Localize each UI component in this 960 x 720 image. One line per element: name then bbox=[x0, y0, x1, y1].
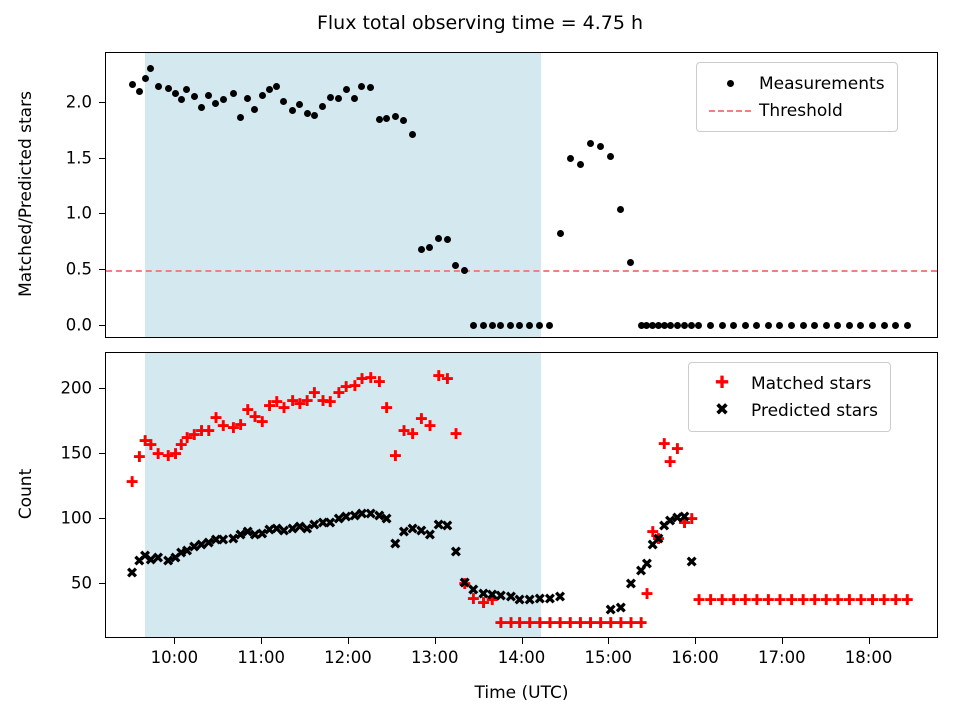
y-tick-mark bbox=[99, 213, 105, 214]
matched-star-point: ✚ bbox=[449, 427, 463, 441]
x-tick-mark bbox=[695, 638, 696, 644]
predicted-star-point: ✖ bbox=[440, 519, 454, 533]
legend-item-threshold[interactable]: Threshold bbox=[707, 97, 885, 124]
measurement-point bbox=[557, 230, 564, 237]
measurement-point bbox=[536, 322, 543, 329]
measurement-point bbox=[259, 92, 266, 99]
predicted-star-point: ✖ bbox=[614, 601, 628, 615]
x-tick-label: 13:00 bbox=[411, 648, 459, 667]
measurement-point bbox=[607, 153, 614, 160]
dot-marker-icon bbox=[707, 80, 753, 87]
measurement-point bbox=[392, 113, 399, 120]
matched-star-point: ✚ bbox=[125, 475, 139, 489]
plus-marker-icon: ✚ bbox=[699, 375, 745, 392]
measurement-point bbox=[707, 322, 714, 329]
x-tick-label: 14:00 bbox=[498, 648, 546, 667]
y-tick-label: 0.0 bbox=[0, 315, 92, 334]
matched-star-point: ✚ bbox=[388, 449, 402, 463]
matched-star-point: ✚ bbox=[380, 401, 394, 415]
matched-star-point: ✚ bbox=[900, 593, 914, 607]
y-tick-label: 50 bbox=[0, 574, 92, 593]
measurement-point bbox=[869, 322, 876, 329]
x-tick-mark bbox=[522, 638, 523, 644]
matched-star-point: ✚ bbox=[634, 616, 648, 630]
measurement-point bbox=[730, 322, 737, 329]
legend-item-measurements[interactable]: Measurements bbox=[707, 70, 885, 97]
x-tick-mark bbox=[174, 638, 175, 644]
matched-star-point: ✚ bbox=[255, 415, 269, 429]
legend-item-matched-stars[interactable]: ✚ Matched stars bbox=[699, 370, 878, 397]
x-tick-mark bbox=[608, 638, 609, 644]
x-tick-label: 16:00 bbox=[671, 648, 719, 667]
measurement-point bbox=[857, 322, 864, 329]
y-tick-label: 1.0 bbox=[0, 204, 92, 223]
y-tick-label: 100 bbox=[0, 509, 92, 528]
x-tick-label: 17:00 bbox=[758, 648, 806, 667]
measurement-point bbox=[577, 161, 584, 168]
measurement-point bbox=[719, 322, 726, 329]
x-tick-mark bbox=[261, 638, 262, 644]
measurement-point bbox=[811, 322, 818, 329]
y-tick-label: 200 bbox=[0, 379, 92, 398]
predicted-star-point: ✖ bbox=[677, 510, 691, 524]
threshold-line bbox=[106, 270, 937, 272]
measurement-point bbox=[237, 114, 244, 121]
legend-label-matched-stars: Matched stars bbox=[745, 374, 871, 394]
predicted-star-point: ✖ bbox=[640, 557, 654, 571]
legend-label-threshold: Threshold bbox=[753, 101, 843, 121]
measurement-point bbox=[823, 322, 830, 329]
y-tick-mark bbox=[99, 388, 105, 389]
bottom-legend: ✚ Matched stars ✖ Predicted stars bbox=[688, 362, 891, 432]
measurement-point bbox=[834, 322, 841, 329]
matched-star-point: ✚ bbox=[372, 375, 386, 389]
top-legend: Measurements Threshold bbox=[696, 62, 898, 132]
top-y-axis-label: Matched/Predicted stars bbox=[16, 51, 36, 337]
measurement-point bbox=[136, 88, 143, 95]
matched-star-point: ✚ bbox=[440, 372, 454, 386]
x-tick-label: 11:00 bbox=[237, 648, 285, 667]
matched-star-point: ✚ bbox=[657, 437, 671, 451]
y-tick-mark bbox=[99, 158, 105, 159]
measurement-point bbox=[311, 112, 318, 119]
bottom-y-axis-label: Count bbox=[16, 351, 36, 637]
measurement-point bbox=[695, 322, 702, 329]
measurement-point bbox=[567, 155, 574, 162]
y-tick-mark bbox=[99, 325, 105, 326]
measurement-point bbox=[881, 322, 888, 329]
x-tick-mark bbox=[782, 638, 783, 644]
measurement-point bbox=[742, 322, 749, 329]
y-tick-label: 1.5 bbox=[0, 148, 92, 167]
measurement-point bbox=[172, 90, 179, 97]
matched-star-point: ✚ bbox=[423, 419, 437, 433]
measurement-point bbox=[155, 83, 162, 90]
x-tick-label: 12:00 bbox=[324, 648, 372, 667]
y-tick-label: 150 bbox=[0, 444, 92, 463]
measurement-point bbox=[198, 104, 205, 111]
measurement-point bbox=[142, 75, 149, 82]
measurement-point bbox=[409, 131, 416, 138]
legend-label-measurements: Measurements bbox=[753, 74, 885, 94]
measurement-point bbox=[546, 322, 553, 329]
measurement-point bbox=[674, 322, 681, 329]
measurement-point bbox=[461, 267, 468, 274]
predicted-star-point: ✖ bbox=[553, 590, 567, 604]
measurement-point bbox=[191, 93, 198, 100]
y-tick-mark bbox=[99, 583, 105, 584]
measurement-point bbox=[681, 322, 688, 329]
x-tick-label: 15:00 bbox=[584, 648, 632, 667]
x-tick-mark bbox=[348, 638, 349, 644]
measurement-point bbox=[470, 322, 477, 329]
legend-item-predicted-stars[interactable]: ✖ Predicted stars bbox=[699, 397, 878, 424]
y-tick-mark bbox=[99, 453, 105, 454]
x-tick-label: 18:00 bbox=[845, 648, 893, 667]
measurement-point bbox=[220, 96, 227, 103]
matched-star-point: ✚ bbox=[670, 442, 684, 456]
measurement-point bbox=[597, 143, 604, 150]
x-tick-label: 10:00 bbox=[151, 648, 199, 667]
measurement-point bbox=[273, 83, 280, 90]
x-axis-label: Time (UTC) bbox=[105, 683, 938, 703]
measurement-point bbox=[800, 322, 807, 329]
measurement-point bbox=[776, 322, 783, 329]
measurement-point bbox=[304, 110, 311, 117]
predicted-star-point: ✖ bbox=[449, 545, 463, 559]
matched-star-point: ✚ bbox=[640, 587, 654, 601]
measurement-point bbox=[688, 322, 695, 329]
y-tick-mark bbox=[99, 269, 105, 270]
x-tick-mark bbox=[869, 638, 870, 644]
measurement-point bbox=[627, 259, 634, 266]
predicted-star-point: ✖ bbox=[380, 512, 394, 526]
measurement-point bbox=[230, 90, 237, 97]
matched-star-point: ✚ bbox=[406, 427, 420, 441]
measurement-point bbox=[788, 322, 795, 329]
measurement-point bbox=[212, 100, 219, 107]
measurement-point bbox=[587, 140, 594, 147]
measurement-point bbox=[904, 322, 911, 329]
measurement-point bbox=[617, 206, 624, 213]
measurement-point bbox=[178, 96, 185, 103]
y-tick-mark bbox=[99, 102, 105, 103]
y-tick-label: 0.5 bbox=[0, 260, 92, 279]
predicted-star-point: ✖ bbox=[685, 555, 699, 569]
measurement-point bbox=[327, 94, 334, 101]
y-tick-mark bbox=[99, 518, 105, 519]
measurement-point bbox=[489, 322, 496, 329]
measurement-point bbox=[296, 101, 303, 108]
y-tick-label: 2.0 bbox=[0, 93, 92, 112]
measurement-point bbox=[129, 81, 136, 88]
measurement-point bbox=[667, 322, 674, 329]
measurement-point bbox=[765, 322, 772, 329]
legend-label-predicted-stars: Predicted stars bbox=[745, 401, 878, 421]
measurement-point bbox=[892, 322, 899, 329]
measurement-point bbox=[165, 85, 172, 92]
dashed-line-icon bbox=[707, 110, 753, 112]
measurement-point bbox=[205, 92, 212, 99]
measurement-point bbox=[343, 86, 350, 93]
figure-canvas: Flux total observing time = 4.75 h 0.00.… bbox=[0, 0, 960, 720]
figure-title: Flux total observing time = 4.75 h bbox=[0, 12, 960, 34]
matched-star-point: ✚ bbox=[233, 418, 247, 432]
measurement-point bbox=[846, 322, 853, 329]
measurement-point bbox=[753, 322, 760, 329]
cross-marker-icon: ✖ bbox=[699, 402, 745, 419]
x-tick-mark bbox=[435, 638, 436, 644]
